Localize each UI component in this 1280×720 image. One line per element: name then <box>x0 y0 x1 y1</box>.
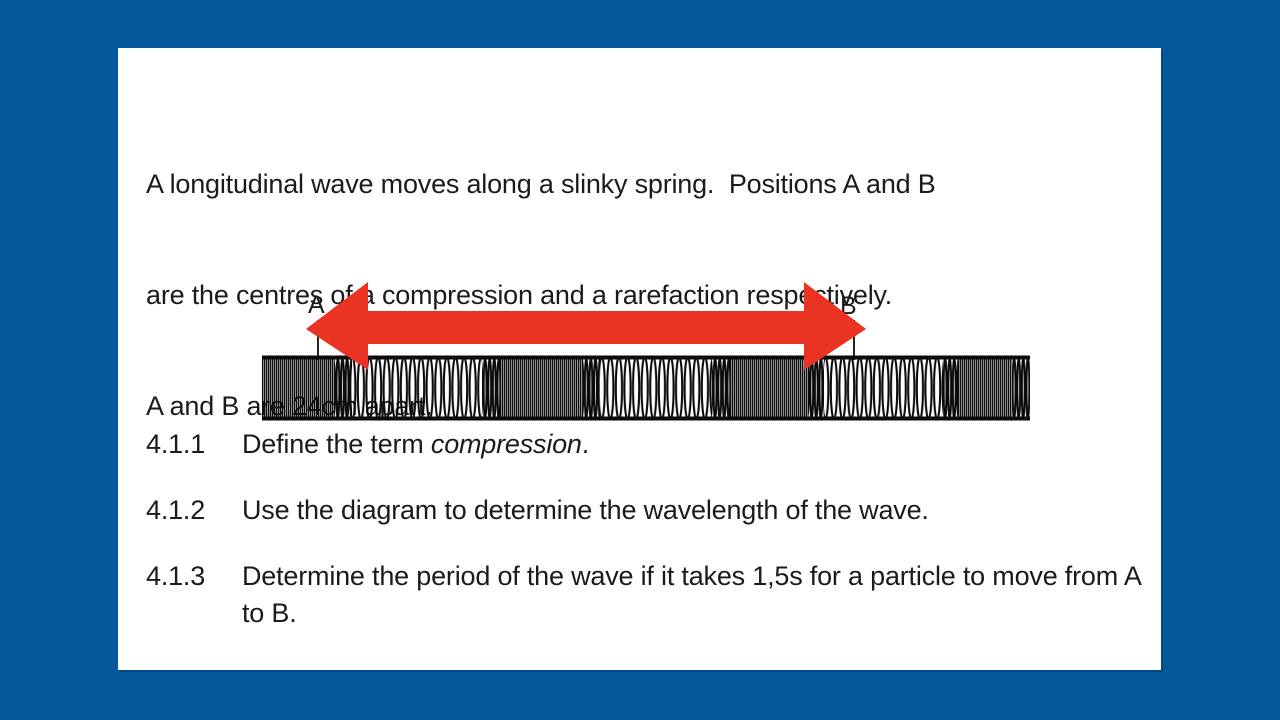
question-number: 4.1.1 <box>146 426 242 463</box>
question-emphasis: compression <box>431 429 582 459</box>
question-item: 4.1.2 Use the diagram to determine the w… <box>146 492 1146 529</box>
question-text-before: Define the term <box>242 429 431 459</box>
question-text-before: Determine the period of the wave if it t… <box>242 561 1140 628</box>
question-item: 4.1.3 Determine the period of the wave i… <box>146 558 1146 632</box>
question-text-after: . <box>582 429 589 459</box>
question-text: Determine the period of the wave if it t… <box>242 558 1146 632</box>
question-number: 4.1.2 <box>146 492 242 529</box>
question-text-before: Use the diagram to determine the wavelen… <box>242 495 929 525</box>
question-text: Define the term compression. <box>242 426 1146 463</box>
slide-canvas: A longitudinal wave moves along a slinky… <box>0 0 1280 720</box>
question-number: 4.1.3 <box>146 558 242 595</box>
slinky-diagram: 24 cm A B <box>118 238 1161 438</box>
question-list: 4.1.1 Define the term compression. 4.1.2… <box>146 426 1146 632</box>
question-item: 4.1.1 Define the term compression. <box>146 426 1146 463</box>
intro-line-1: A longitudinal wave moves along a slinky… <box>146 166 1136 203</box>
double-headed-arrow-icon <box>306 282 866 370</box>
worksheet-card: A longitudinal wave moves along a slinky… <box>118 48 1161 670</box>
question-text: Use the diagram to determine the wavelen… <box>242 492 1146 529</box>
